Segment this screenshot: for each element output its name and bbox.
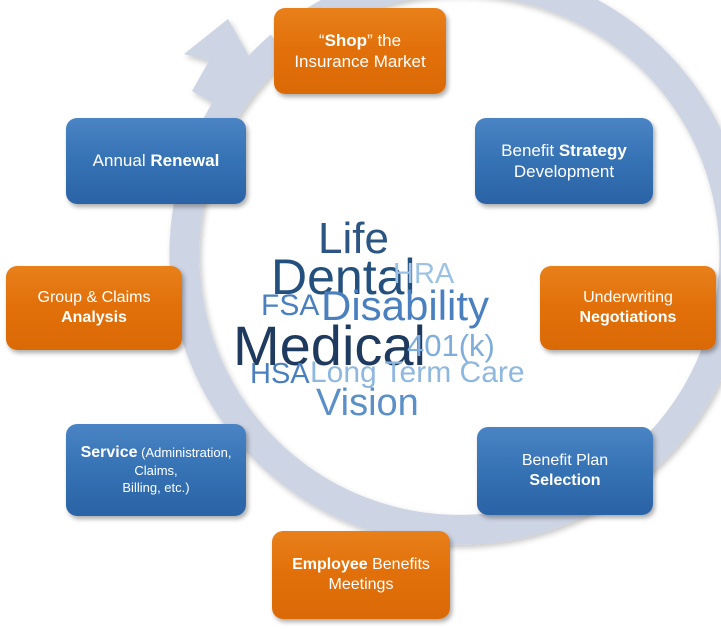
node-underwriting-label: Underwriting Negotiations — [549, 288, 707, 328]
node-underwriting-negotiations[interactable]: Underwriting Negotiations — [540, 266, 716, 350]
node-service-label: Service (Administration, Claims, Billing… — [75, 443, 237, 497]
node-annual-renewal[interactable]: Annual Renewal — [66, 118, 246, 204]
node-service[interactable]: Service (Administration, Claims, Billing… — [66, 424, 246, 516]
node-strategy-label: Benefit Strategy Development — [484, 140, 644, 182]
node-group-and-claims-analysis[interactable]: Group & Claims Analysis — [6, 266, 182, 350]
wordcloud-term: Vision — [316, 382, 419, 425]
node-analysis-label: Group & Claims Analysis — [15, 288, 173, 328]
node-shop-label: “Shop” the Insurance Market — [283, 30, 437, 72]
node-shop-the-insurance-market[interactable]: “Shop” the Insurance Market — [274, 8, 446, 94]
node-employee-benefits-meetings[interactable]: Employee Benefits Meetings — [272, 531, 450, 619]
node-plan-selection-label: Benefit Plan Selection — [486, 451, 644, 491]
node-meetings-label: Employee Benefits Meetings — [281, 555, 441, 595]
node-renewal-label: Annual Renewal — [75, 150, 237, 171]
node-benefit-plan-selection[interactable]: Benefit Plan Selection — [477, 427, 653, 515]
node-benefit-strategy-development[interactable]: Benefit Strategy Development — [475, 118, 653, 204]
cycle-diagram-canvas: “Shop” the Insurance Market Benefit Stra… — [0, 0, 721, 629]
wordcloud-term: HSA — [250, 358, 310, 391]
benefits-word-cloud: LifeDentalHRAFSADisabilityMedical401(k)H… — [205, 210, 515, 420]
